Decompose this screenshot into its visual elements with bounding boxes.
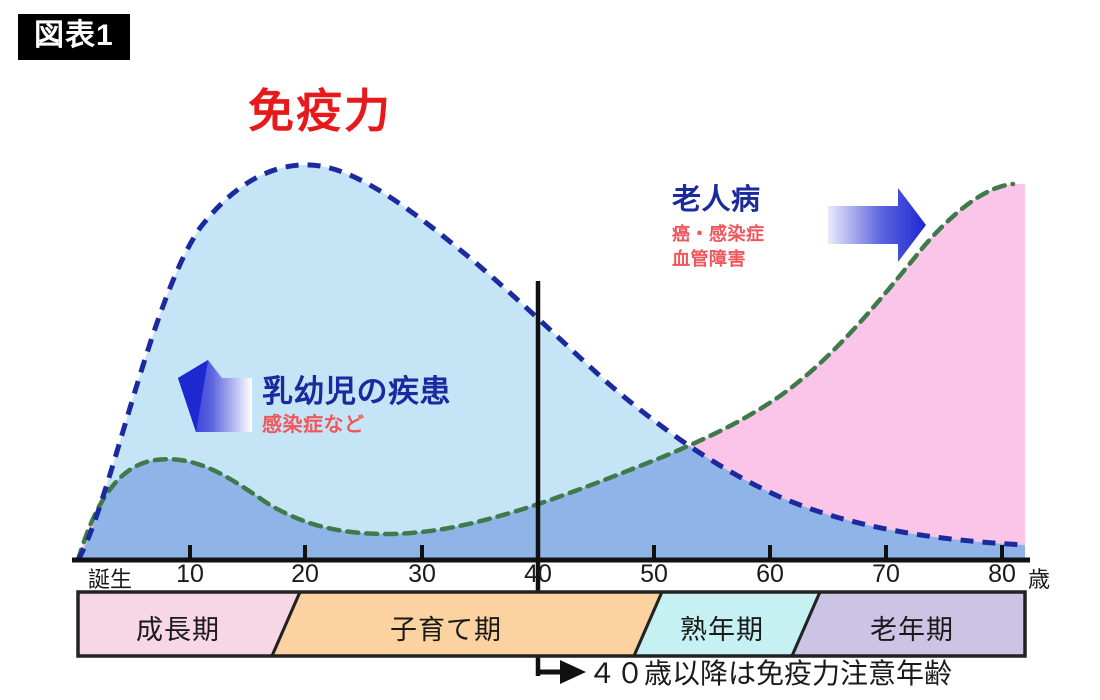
x-tick-70: 70 <box>872 560 900 589</box>
stage-label-childrearing: 子育て期 <box>390 608 502 647</box>
label-geriatric-disease-sub2: 血管障害 <box>672 250 746 270</box>
label-infant-disease: 乳幼児の疾患 <box>262 375 451 409</box>
stage-label-mature: 熟年期 <box>680 608 764 647</box>
x-tick-30: 30 <box>408 560 436 589</box>
x-tick-40: 40 <box>524 560 552 589</box>
x-tick-60: 60 <box>756 560 784 589</box>
label-geriatric-disease: 老人病 <box>672 185 761 217</box>
caption-arrow-icon <box>538 660 586 684</box>
x-tick-80: 80 <box>988 560 1016 589</box>
x-tick-20: 20 <box>291 560 319 589</box>
stage-label-growth: 成長期 <box>136 608 220 647</box>
x-tick-50: 50 <box>640 560 668 589</box>
caption-40-warning: ４０歳以降は免疫力注意年齢 <box>588 652 952 692</box>
chart-canvas <box>0 0 1100 700</box>
stage-label-oldage: 老年期 <box>870 608 954 647</box>
x-tick-10: 10 <box>176 560 204 589</box>
label-geriatric-disease-sub1: 癌・感染症 <box>672 225 765 245</box>
label-infant-disease-sub: 感染症など <box>262 414 365 436</box>
immunity-chart: 免疫力 乳幼児の疾患 感染症など 老人病 癌・感染症 血管障害 誕生 10 20… <box>0 0 1100 700</box>
x-tick-birth: 誕生 <box>88 562 132 594</box>
x-axis-unit: 歳 <box>1028 562 1050 594</box>
geriatric-arrow-icon <box>828 188 926 262</box>
chart-title-immunity: 免疫力 <box>248 86 392 137</box>
figure-page: 図表1 <box>0 0 1100 700</box>
